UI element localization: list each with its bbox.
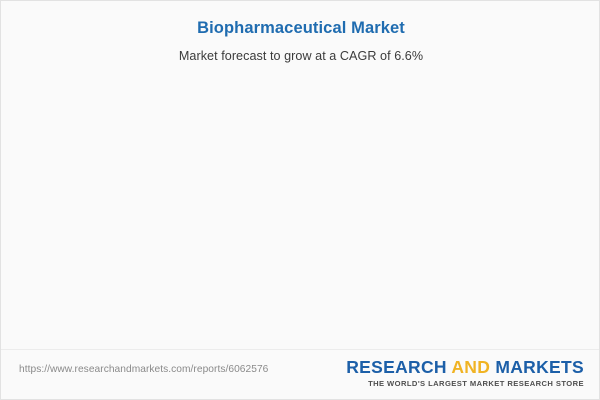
- footer: https://www.researchandmarkets.com/repor…: [1, 349, 600, 400]
- logo-wordmark: RESEARCH AND MARKETS: [346, 358, 584, 376]
- logo-word-markets: MARKETS: [495, 357, 584, 377]
- logo-word-research: RESEARCH: [346, 357, 447, 377]
- logo-tagline: THE WORLD'S LARGEST MARKET RESEARCH STOR…: [346, 379, 584, 388]
- research-and-markets-logo[interactable]: RESEARCH AND MARKETS THE WORLD'S LARGEST…: [346, 358, 584, 388]
- logo-word-and-text: AND: [451, 357, 490, 377]
- infographic-card: Biopharmaceutical Market Market forecast…: [0, 0, 600, 400]
- chart-plot-area: USD 484.38 Million: [1, 1, 600, 349]
- report-url[interactable]: https://www.researchandmarkets.com/repor…: [19, 364, 268, 375]
